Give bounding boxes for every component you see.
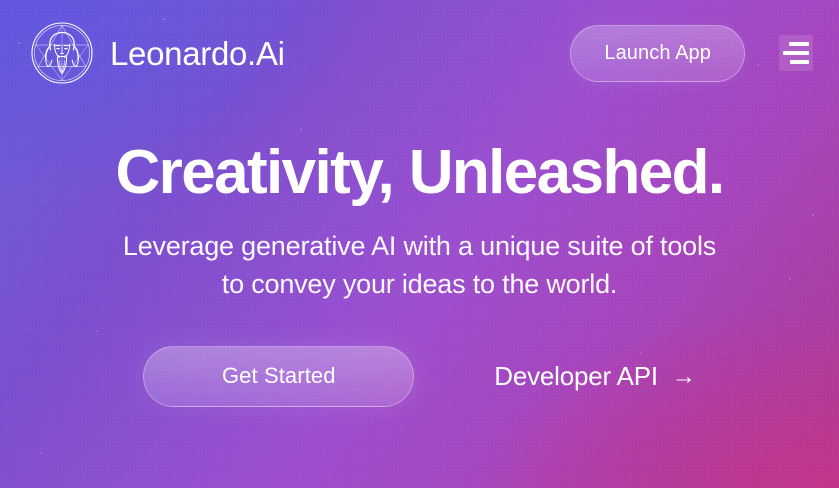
hamburger-menu-icon[interactable] <box>779 35 813 71</box>
launch-app-button[interactable]: Launch App <box>570 25 745 82</box>
header-actions: Launch App <box>570 25 813 82</box>
hero-headline: Creativity, Unleashed. <box>116 140 724 205</box>
hero-cta-group: Get Started Developer API → <box>143 346 695 407</box>
arrow-right-icon: → <box>672 365 696 389</box>
brand-logo-link[interactable]: Leonardo.Ai <box>30 21 285 85</box>
site-header: Leonardo.Ai Launch App <box>0 0 839 106</box>
leonardo-vitruvian-emblem-icon <box>30 21 94 85</box>
get-started-button[interactable]: Get Started <box>143 346 414 407</box>
hero-section: Creativity, Unleashed. Leverage generati… <box>0 106 839 488</box>
menu-bar-top <box>789 42 809 46</box>
landing-page: Leonardo.Ai Launch App Creativity, Unlea… <box>0 0 839 488</box>
developer-api-link[interactable]: Developer API → <box>494 361 695 392</box>
menu-bar-middle <box>783 51 809 55</box>
hero-subheadline-line-1: Leverage generative AI with a unique sui… <box>123 231 716 261</box>
brand-name: Leonardo.Ai <box>110 37 285 70</box>
hero-subheadline-line-2: to convey your ideas to the world. <box>222 269 617 299</box>
developer-api-label: Developer API <box>494 361 658 392</box>
menu-bar-bottom <box>790 60 809 64</box>
hero-subheadline: Leverage generative AI with a unique sui… <box>123 227 716 304</box>
